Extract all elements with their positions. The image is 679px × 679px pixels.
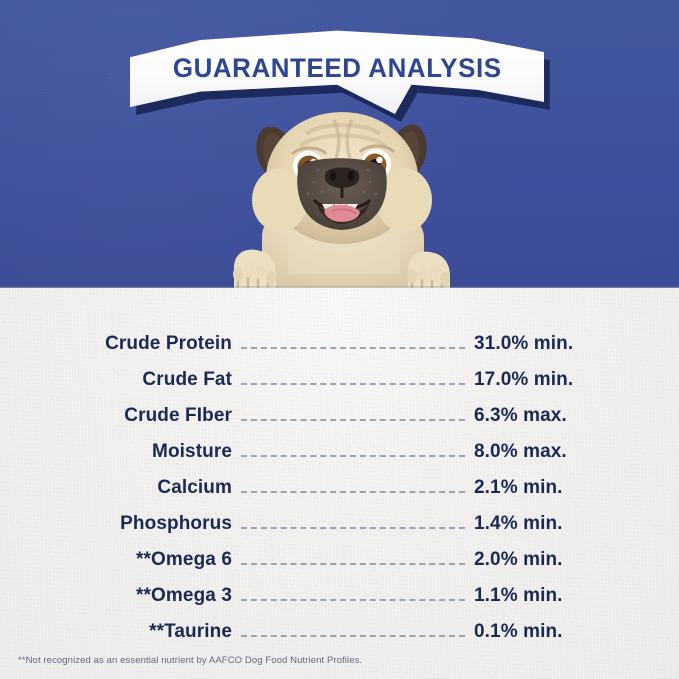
- nutrient-value: 2.0% min.: [474, 549, 563, 571]
- leader-dots: [241, 490, 465, 493]
- nutrient-value: 1.4% min.: [474, 513, 563, 535]
- nutrient-label: Crude Fat: [0, 369, 232, 391]
- leader-dots: [241, 382, 465, 385]
- nutrient-value: 2.1% min.: [474, 477, 563, 499]
- nutrient-label: Phosphorus: [0, 513, 232, 535]
- banner-title-text: GUARANTEED ANALYSIS: [173, 53, 502, 84]
- nutrient-label: Crude Protein: [0, 333, 232, 355]
- nutrient-label: **Omega 3: [0, 585, 232, 607]
- nutrient-value: 1.1% min.: [474, 585, 563, 607]
- table-row: Crude Protein 31.0% min.: [0, 326, 679, 362]
- table-row: Crude FIber 6.3% max.: [0, 398, 679, 434]
- table-row: **Taurine 0.1% min.: [0, 614, 679, 650]
- nutrient-value: 31.0% min.: [474, 333, 573, 355]
- leader-dots: [241, 346, 465, 349]
- nutrient-label: Moisture: [0, 441, 232, 463]
- leader-dots: [241, 418, 465, 421]
- nutrient-value: 17.0% min.: [474, 369, 573, 391]
- leader-dots: [241, 598, 465, 601]
- leader-dots: [241, 562, 465, 565]
- nutrient-label: **Omega 6: [0, 549, 232, 571]
- table-row: Phosphorus 1.4% min.: [0, 506, 679, 542]
- table-row: Calcium 2.1% min.: [0, 470, 679, 506]
- nutrient-label: **Taurine: [0, 621, 232, 643]
- nutrient-value: 8.0% max.: [474, 441, 567, 463]
- pug-dog-image: [228, 104, 456, 304]
- nutrient-value: 0.1% min.: [474, 621, 563, 643]
- banner-title: GUARANTEED ANALYSIS: [130, 25, 544, 111]
- guaranteed-analysis-table: Crude Protein 31.0% min. Crude Fat 17.0%…: [0, 288, 679, 650]
- table-row: Moisture 8.0% max.: [0, 434, 679, 470]
- leader-dots: [241, 454, 465, 457]
- leader-dots: [241, 634, 465, 637]
- nutrient-value: 6.3% max.: [474, 405, 567, 427]
- table-row: **Omega 3 1.1% min.: [0, 578, 679, 614]
- footnote: **Not recognized as an essential nutrien…: [18, 655, 362, 666]
- table-row: Crude Fat 17.0% min.: [0, 362, 679, 398]
- nutrient-label: Crude FIber: [0, 405, 232, 427]
- nutrient-label: Calcium: [0, 477, 232, 499]
- table-row: **Omega 6 2.0% min.: [0, 542, 679, 578]
- guaranteed-analysis-panel: GUARANTEED ANALYSIS: [0, 0, 679, 679]
- leader-dots: [241, 526, 465, 529]
- pug-dog-icon: [228, 104, 456, 304]
